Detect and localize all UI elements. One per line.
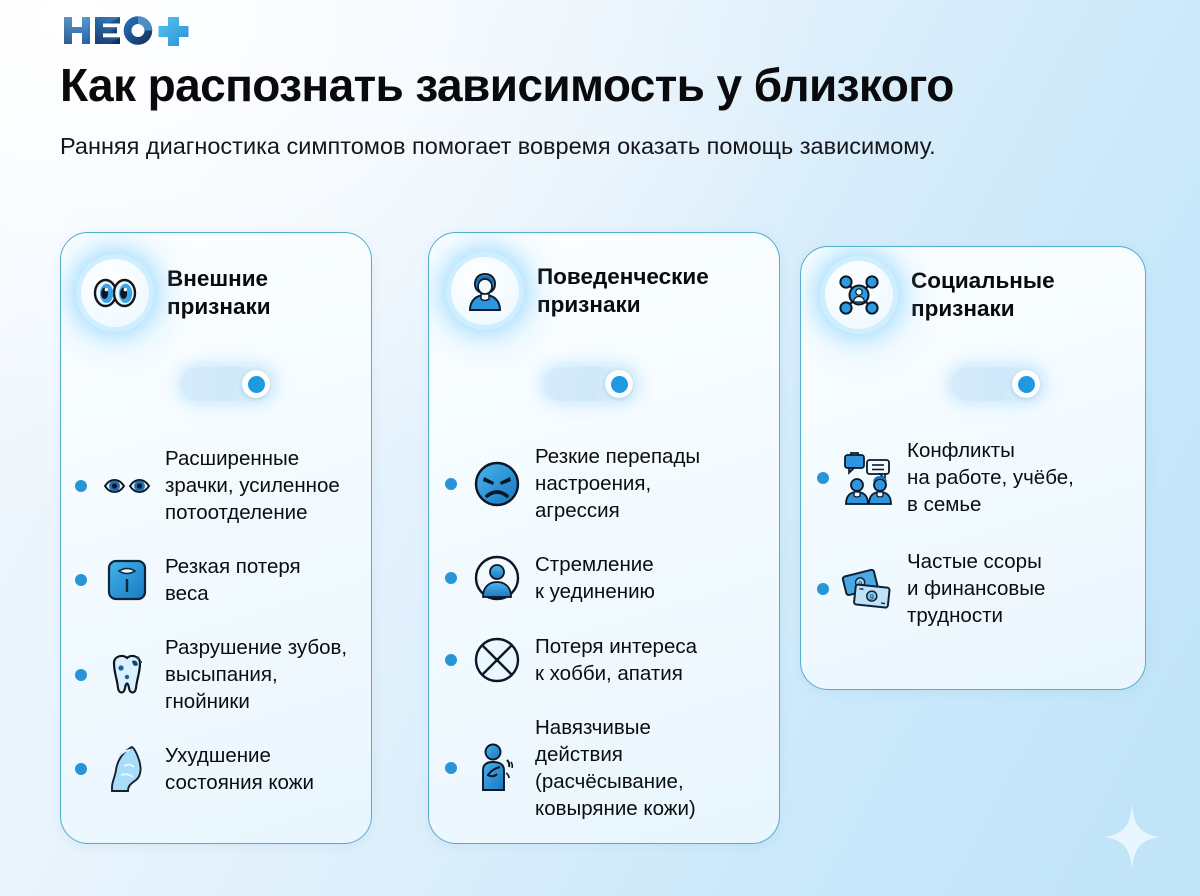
list-item-text: Резкая потеря веса xyxy=(165,553,301,607)
card-header: Поведенческие признаки xyxy=(451,257,709,325)
bullet-dot xyxy=(445,654,457,666)
eyes-icon xyxy=(81,259,149,327)
sparkle-star-icon xyxy=(1104,804,1160,870)
list-item: Расширенные зрачки, усиленное потоотделе… xyxy=(61,445,371,526)
list-item-text: Конфликты на работе, учёбе, в семье xyxy=(907,437,1074,518)
card-external-signs: Внешние признаки xyxy=(60,232,372,844)
card-item-list: Расширенные зрачки, усиленное потоотделе… xyxy=(61,445,371,823)
list-item-text: Навязчивые действия (расчёсывание, ковыр… xyxy=(535,714,696,822)
conflict-people-icon xyxy=(841,450,897,506)
toggle-knob xyxy=(242,370,270,398)
angry-face-icon xyxy=(469,456,525,512)
network-people-icon xyxy=(825,261,893,329)
crossed-circle-icon xyxy=(469,632,525,688)
card-social-signs: Социальные признаки xyxy=(800,246,1146,690)
decayed-tooth-icon xyxy=(99,647,155,703)
list-item: Навязчивые действия (расчёсывание, ковыр… xyxy=(429,714,779,822)
bullet-dot xyxy=(445,478,457,490)
money-banknotes-icon: 9 9 xyxy=(841,561,897,617)
toggle-social[interactable] xyxy=(951,367,1043,401)
page-subtitle: Ранняя диагностика симптомов помогает во… xyxy=(60,128,1010,165)
card-title: Внешние признаки xyxy=(167,265,271,321)
list-item: Ухудшение состояния кожи xyxy=(61,741,371,797)
card-header: Социальные признаки xyxy=(825,261,1055,329)
list-item: Резкие перепады настроения, агрессия xyxy=(429,443,779,524)
user-circle-icon xyxy=(469,550,525,606)
list-item: Конфликты на работе, учёбе, в семье xyxy=(801,437,1145,518)
list-item-text: Стремление к уединению xyxy=(535,551,655,605)
bullet-dot xyxy=(817,472,829,484)
weight-scale-icon xyxy=(99,552,155,608)
bullet-dot xyxy=(75,574,87,586)
list-item-text: Потеря интереса к хобби, апатия xyxy=(535,633,697,687)
list-item: Резкая потеря веса xyxy=(61,552,371,608)
card-item-list: Конфликты на работе, учёбе, в семье 9 xyxy=(801,437,1145,659)
bullet-dot xyxy=(75,480,87,492)
list-item: Потеря интереса к хобби, апатия xyxy=(429,632,779,688)
card-behavioral-signs: Поведенческие признаки xyxy=(428,232,780,844)
bullet-dot xyxy=(75,669,87,681)
card-item-list: Резкие перепады настроения, агрессия xyxy=(429,443,779,844)
infographic-page: Как распознать зависимость у близкого Ра… xyxy=(0,0,1200,896)
person-avatar-icon xyxy=(451,257,519,325)
list-item: 9 9 Частые ссоры и финансовые труднос xyxy=(801,548,1145,629)
neo-plus-logo-icon xyxy=(62,14,202,46)
list-item: Стремление к уединению xyxy=(429,550,779,606)
face-skin-icon xyxy=(99,741,155,797)
list-item-text: Разрушение зубов, высыпания, гнойники xyxy=(165,634,347,715)
card-title: Социальные признаки xyxy=(911,267,1055,323)
toggle-knob xyxy=(1012,370,1040,398)
bullet-dot xyxy=(75,763,87,775)
list-item-text: Резкие перепады настроения, агрессия xyxy=(535,443,700,524)
toggle-external[interactable] xyxy=(181,367,273,401)
toggle-knob xyxy=(605,370,633,398)
list-item-text: Частые ссоры и финансовые трудности xyxy=(907,548,1045,629)
dilated-pupils-icon xyxy=(99,458,155,514)
list-item-text: Ухудшение состояния кожи xyxy=(165,742,314,796)
list-item-text: Расширенные зрачки, усиленное потоотделе… xyxy=(165,445,340,526)
toggle-behavioral[interactable] xyxy=(544,367,636,401)
bullet-dot xyxy=(445,572,457,584)
bullet-dot xyxy=(445,762,457,774)
card-title: Поведенческие признаки xyxy=(537,263,709,319)
scratching-person-icon xyxy=(469,740,525,796)
bullet-dot xyxy=(817,583,829,595)
page-title: Как распознать зависимость у близкого xyxy=(60,58,1160,112)
card-header: Внешние признаки xyxy=(81,259,271,327)
brand-logo xyxy=(62,14,202,46)
list-item: Разрушение зубов, высыпания, гнойники xyxy=(61,634,371,715)
